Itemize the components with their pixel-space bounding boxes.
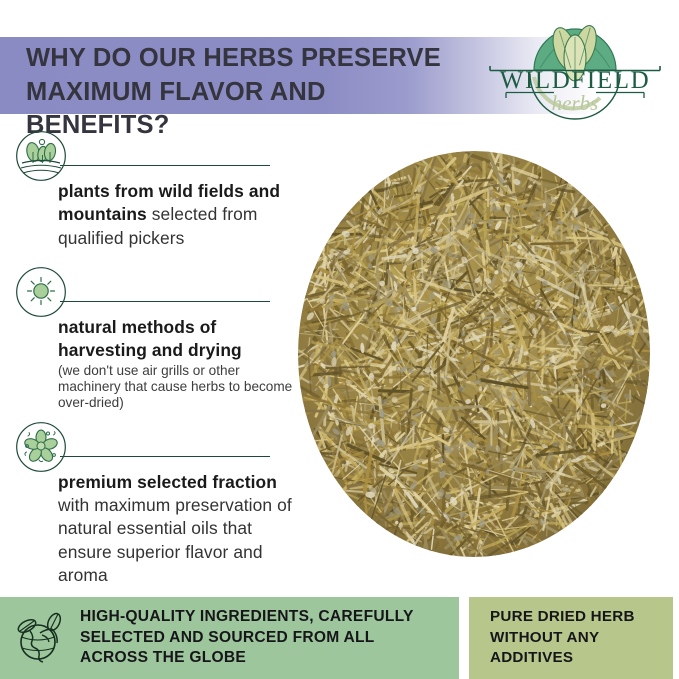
feature-text: plants from wild fields and mountains se… <box>58 180 294 250</box>
feature-text-block: plants from wild fields and mountains se… <box>0 180 300 250</box>
feature-text-block: natural methods of harvesting and drying… <box>0 316 300 411</box>
infographic-page: WHY DO OUR HERBS PRESERVE MAXIMUM FLAVOR… <box>0 0 679 679</box>
sun-drying-icon <box>15 266 67 318</box>
logo-sub-text: herbs <box>552 91 599 115</box>
dried-herb-pile-photo <box>268 136 670 576</box>
feature-header <box>0 264 300 316</box>
feature-divider <box>60 301 270 302</box>
banner-quality: HIGH-QUALITY INGREDIENTS, CAREFULLY SELE… <box>0 597 459 679</box>
banner-line-2: WITHOUT ANY <box>490 628 635 649</box>
feature-item-premium-fraction: premium selected fraction with maximum p… <box>0 419 300 588</box>
feature-text-block: premium selected fraction with maximum p… <box>0 471 300 588</box>
logo-brand-text: WILDFIELD <box>500 67 650 94</box>
feature-text-bold: premium selected fraction <box>58 472 277 492</box>
banner-quality-text: HIGH-QUALITY INGREDIENTS, CAREFULLY SELE… <box>80 607 414 669</box>
feature-text: premium selected fraction with maximum p… <box>58 471 294 588</box>
banner-line-1: HIGH-QUALITY INGREDIENTS, CAREFULLY <box>80 607 414 628</box>
feature-list: plants from wild fields and mountains se… <box>0 128 300 587</box>
wild-field-plants-icon <box>15 130 67 182</box>
brand-logo: WILDFIELD herbs <box>484 22 666 120</box>
leaf-badge-logo-icon: WILDFIELD herbs <box>484 22 666 120</box>
banner-pure-herb-text: PURE DRIED HERB WITHOUT ANY ADDITIVES <box>490 607 635 669</box>
feature-text: natural methods of harvesting and drying <box>58 316 294 363</box>
banner-line-1: PURE DRIED HERB <box>490 607 635 628</box>
banner-line-2: SELECTED AND SOURCED FROM ALL <box>80 628 414 649</box>
feature-divider <box>60 165 270 166</box>
feature-note: (we don't use air grills or other machin… <box>58 363 294 411</box>
feature-item-wild-fields: plants from wild fields and mountains se… <box>0 128 300 264</box>
globe-leaf-icon <box>12 609 70 667</box>
feature-item-natural-drying: natural methods of harvesting and drying… <box>0 264 300 419</box>
feature-header <box>0 419 300 471</box>
feature-text-bold: natural methods of harvesting and drying <box>58 317 242 360</box>
banner-line-3: ACROSS THE GLOBE <box>80 648 414 669</box>
flower-premium-icon <box>15 421 67 473</box>
feature-header <box>0 128 300 184</box>
herb-pile-graphic <box>294 144 654 564</box>
page-title-line1: WHY DO OUR HERBS PRESERVE <box>26 44 441 72</box>
banner-line-3: ADDITIVES <box>490 648 635 669</box>
banner-pure-herb: PURE DRIED HERB WITHOUT ANY ADDITIVES <box>469 597 673 679</box>
feature-text-regular: with maximum preservation of natural ess… <box>58 495 292 585</box>
feature-divider <box>60 456 270 457</box>
